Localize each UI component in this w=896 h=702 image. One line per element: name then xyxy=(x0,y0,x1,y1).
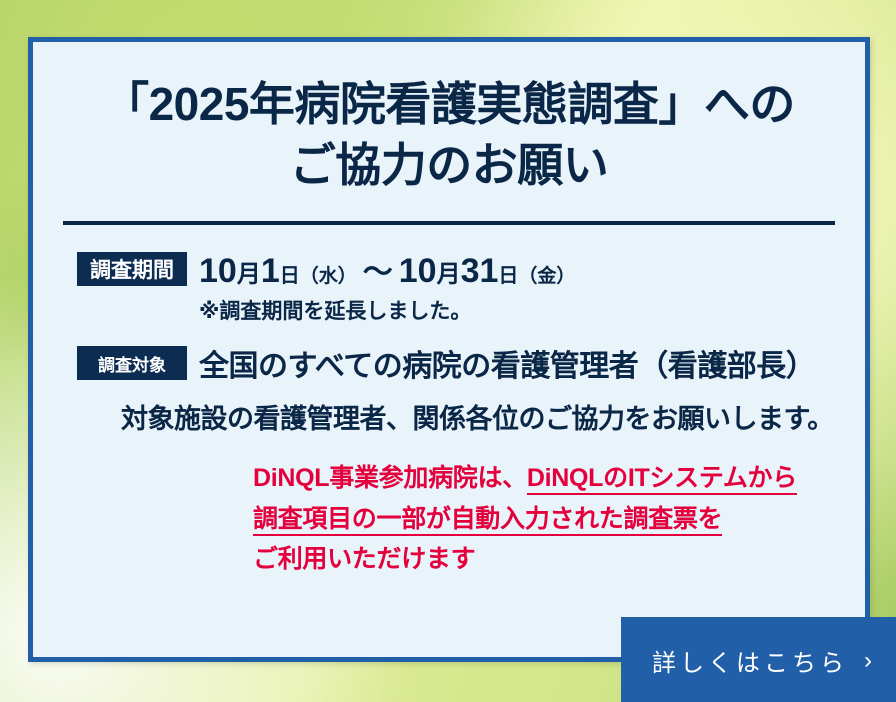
page-title: 「2025年病院看護実態調査」への ご協力のお願い xyxy=(33,42,865,195)
period-end-weekday: （金） xyxy=(518,266,575,287)
badge-survey-target: 調査対象 xyxy=(77,346,187,380)
survey-info: 調査期間 10月1日（水）〜10月31日（金） ※調査期間を延長しました。 調査… xyxy=(33,225,865,580)
dinql-line-1-plain: DiNQL事業参加病院は、 xyxy=(253,464,527,492)
survey-target-row: 調査対象 全国のすべての病院の看護管理者（看護部長） xyxy=(77,341,865,385)
dinql-line-1-underlined: DiNQLのITシステムから xyxy=(527,464,797,495)
chevron-right-icon: › xyxy=(864,649,872,673)
period-start-month: 10 xyxy=(199,252,237,290)
period-end-day: 31 xyxy=(461,252,499,290)
dinql-line-2: 調査項目の一部が自動入力された調査票を xyxy=(253,499,865,540)
period-range-mark: 〜 xyxy=(357,256,399,289)
dinql-line-3: ご利用いただけます xyxy=(253,539,865,580)
survey-period-value: 10月1日（水）〜10月31日（金） xyxy=(199,247,575,291)
details-button[interactable]: 詳しくはこちら › xyxy=(621,617,896,702)
survey-period-row: 調査期間 10月1日（水）〜10月31日（金） xyxy=(77,247,865,291)
survey-target-value: 全国のすべての病院の看護管理者（看護部長） xyxy=(199,341,815,385)
period-start-day-unit: 日 xyxy=(280,265,300,287)
period-end-day-unit: 日 xyxy=(498,265,518,287)
details-button-label: 詳しくはこちら xyxy=(652,643,848,678)
badge-survey-period: 調査期間 xyxy=(77,252,187,286)
dinql-line-2-underlined: 調査項目の一部が自動入力された調査票を xyxy=(253,505,722,536)
period-start-weekday: （水） xyxy=(300,266,357,287)
dinql-line-3-plain: ご利用いただけます xyxy=(253,545,475,573)
period-start-month-unit: 月 xyxy=(237,261,261,288)
period-start-day: 1 xyxy=(261,252,280,290)
dinql-notice: DiNQL事業参加病院は、DiNQLのITシステムから 調査項目の一部が自動入力… xyxy=(253,458,865,580)
period-end-month-unit: 月 xyxy=(437,261,461,288)
period-extension-note: ※調査期間を延長しました。 xyxy=(199,295,865,325)
announcement-card: 「2025年病院看護実態調査」への ご協力のお願い 調査期間 10月1日（水）〜… xyxy=(28,37,870,662)
title-line-2: ご協力のお願い xyxy=(33,135,865,196)
dinql-line-1: DiNQL事業参加病院は、DiNQLのITシステムから xyxy=(253,458,865,499)
period-end-month: 10 xyxy=(399,252,437,290)
title-line-1: 「2025年病院看護実態調査」への xyxy=(33,74,865,135)
banner-background: 「2025年病院看護実態調査」への ご協力のお願い 調査期間 10月1日（水）〜… xyxy=(0,0,896,702)
cooperation-request-text: 対象施設の看護管理者、関係各位のご協力をお願いします。 xyxy=(121,397,865,436)
